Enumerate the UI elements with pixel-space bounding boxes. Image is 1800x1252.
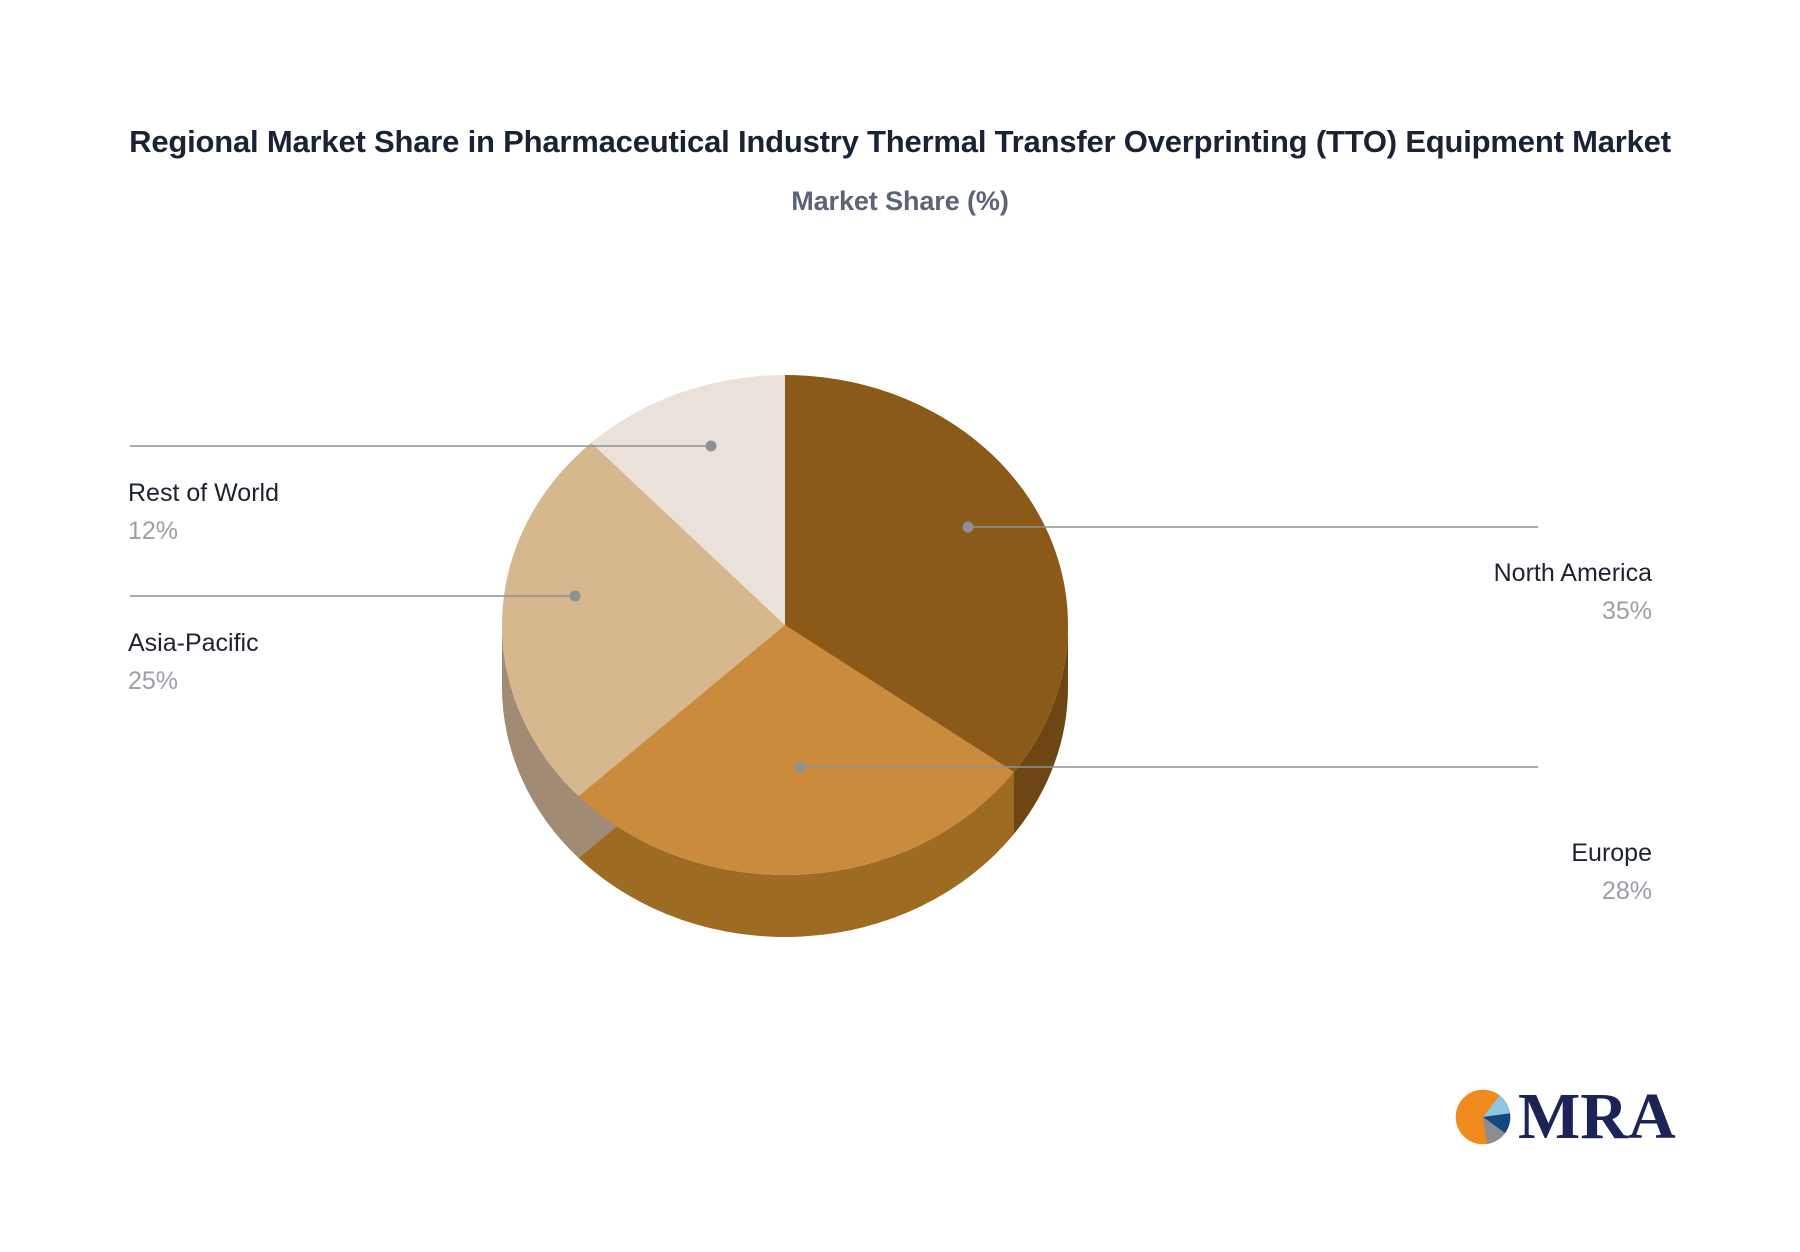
callout-label-north-america: North America [1232, 558, 1652, 589]
callout-value-asia-pacific: 25% [128, 665, 548, 699]
leader-dot-europe [795, 762, 806, 773]
callout-label-europe: Europe [1232, 838, 1652, 869]
callout-value-north-america: 35% [1232, 595, 1652, 629]
mra-logo: MRA [1452, 1084, 1676, 1150]
leader-dot-north-america [963, 522, 974, 533]
callout-label-asia-pacific: Asia-Pacific [128, 628, 548, 659]
callout-rest-of-world: Rest of World 12% [128, 478, 548, 548]
pie-chart-logo-icon [1452, 1086, 1514, 1148]
chart-canvas: Regional Market Share in Pharmaceutical … [0, 0, 1800, 1252]
callout-north-america: North America 35% [1232, 558, 1652, 628]
callout-value-europe: 28% [1232, 875, 1652, 909]
callout-europe: Europe 28% [1232, 838, 1652, 908]
leader-dot-asia-pacific [570, 591, 581, 602]
callout-asia-pacific: Asia-Pacific 25% [128, 628, 548, 698]
leader-dot-rest-of-world [706, 441, 717, 452]
logo-wordmark: MRA [1518, 1084, 1676, 1150]
callout-value-rest-of-world: 12% [128, 515, 548, 549]
leader-north-america [963, 522, 1539, 533]
callout-label-rest-of-world: Rest of World [128, 478, 548, 509]
pie-slices [502, 375, 1068, 875]
